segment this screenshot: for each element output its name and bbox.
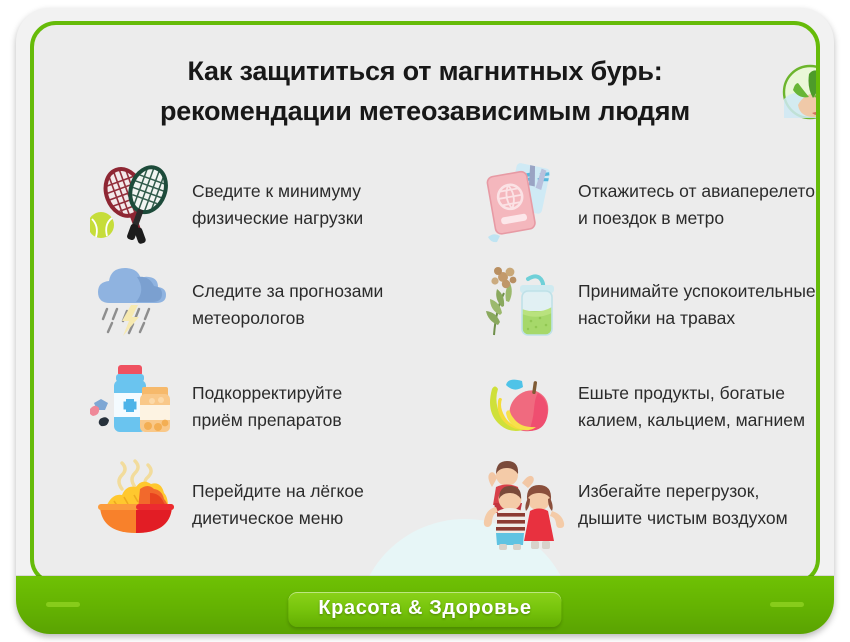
medicine-bottles-icon xyxy=(90,361,182,453)
tip-text: Перейдите на лёгкое диетическое меню xyxy=(192,478,364,532)
title-line-1: Как защититься от магнитных бурь: xyxy=(34,51,816,91)
tennis-rackets-icon xyxy=(90,159,182,251)
passport-plane-tickets-icon xyxy=(476,159,568,251)
title-line-2: рекомендации метеозависимым людям xyxy=(34,91,816,131)
tip-line-2: настойки на травах xyxy=(578,305,816,332)
tip-line-2: метеорологов xyxy=(192,305,383,332)
tip-line-1: Ешьте продукты, богатые xyxy=(578,380,805,407)
tip-item: Сведите к минимуму физические нагрузки xyxy=(90,157,450,253)
poster-header: Как защититься от магнитных бурь: рекоме… xyxy=(34,51,816,131)
tip-item: Ешьте продукты, богатые калием, кальцием… xyxy=(476,359,820,455)
tip-line-2: калием, кальцием, магнием xyxy=(578,407,805,434)
tip-line-1: Сведите к минимуму xyxy=(192,178,363,205)
tip-line-2: и поездок в метро xyxy=(578,205,820,232)
footer-ribbon[interactable]: Красота & Здоровье xyxy=(288,592,561,627)
tip-line-1: Принимайте успокоительные xyxy=(578,278,816,305)
tip-item: Подкорректируйте приём препаратов xyxy=(90,359,450,455)
ribbon-dash-left xyxy=(46,602,80,607)
content-panel: Как защититься от магнитных бурь: рекоме… xyxy=(30,21,820,585)
herbal-drink-jar-icon xyxy=(476,259,568,351)
tip-line-2: приём препаратов xyxy=(192,407,342,434)
tip-line-2: физические нагрузки xyxy=(192,205,363,232)
hot-food-bowl-icon xyxy=(90,459,182,551)
tip-text: Следите за прогнозами метеорологов xyxy=(192,278,383,332)
footer-label: Красота & Здоровье xyxy=(318,597,531,620)
tip-text: Избегайте перегрузок, дышите чистым возд… xyxy=(578,478,788,532)
ribbon-dash-right xyxy=(770,602,804,607)
tip-item: Следите за прогнозами метеорологов xyxy=(90,257,450,353)
beauty-health-logo xyxy=(776,61,820,123)
tip-line-1: Подкорректируйте xyxy=(192,380,342,407)
children-playing-icon xyxy=(476,459,568,551)
tip-line-1: Перейдите на лёгкое xyxy=(192,478,364,505)
tip-line-2: диетическое меню xyxy=(192,505,364,532)
tip-line-1: Избегайте перегрузок, xyxy=(578,478,788,505)
tip-line-2: дышите чистым воздухом xyxy=(578,505,788,532)
tip-text: Принимайте успокоительные настойки на тр… xyxy=(578,278,816,332)
rain-cloud-lightning-icon xyxy=(90,259,182,351)
tip-item: Перейдите на лёгкое диетическое меню xyxy=(90,457,450,553)
tip-text: Ешьте продукты, богатые калием, кальцием… xyxy=(578,380,805,434)
infographic-poster: Как защититься от магнитных бурь: рекоме… xyxy=(0,0,850,642)
tip-line-1: Откажитесь от авиаперелетов xyxy=(578,178,820,205)
tip-item: Откажитесь от авиаперелетов и поездок в … xyxy=(476,157,820,253)
poster-plate: Как защититься от магнитных бурь: рекоме… xyxy=(16,8,834,634)
tip-text: Сведите к минимуму физические нагрузки xyxy=(192,178,363,232)
tip-item: Принимайте успокоительные настойки на тр… xyxy=(476,257,820,353)
tip-item: Избегайте перегрузок, дышите чистым возд… xyxy=(476,457,820,553)
tip-text: Откажитесь от авиаперелетов и поездок в … xyxy=(578,178,820,232)
banana-apple-icon xyxy=(476,361,568,453)
tip-text: Подкорректируйте приём препаратов xyxy=(192,380,342,434)
tip-line-1: Следите за прогнозами xyxy=(192,278,383,305)
tips-grid: Сведите к минимуму физические нагрузки xyxy=(34,157,816,557)
